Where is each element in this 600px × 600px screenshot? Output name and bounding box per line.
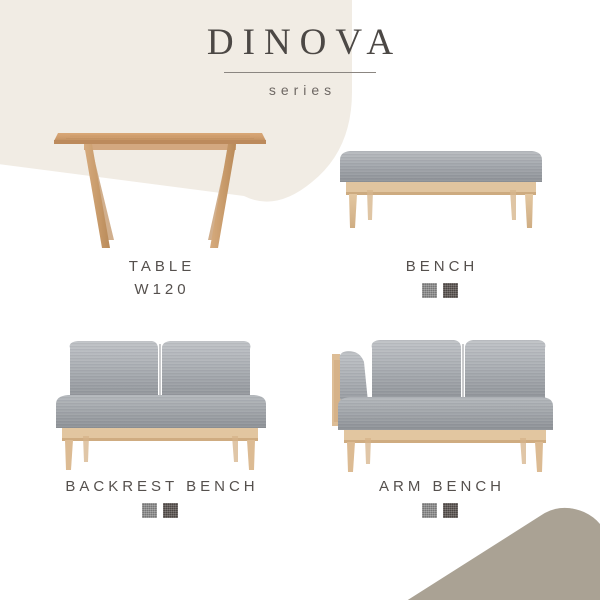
backrest-bench-swatches (40, 503, 280, 518)
product-title: ARM BENCH (320, 478, 560, 495)
catalog-page: DINOVA series (0, 0, 600, 600)
dining-table-illustration (40, 108, 280, 258)
backrest-bench-figure (40, 330, 280, 478)
bench-figure (320, 108, 560, 258)
brand-header: DINOVA series (0, 24, 600, 98)
product-card-bench[interactable]: BENCH (320, 108, 560, 298)
swatch-light-gray[interactable] (422, 283, 437, 298)
arm-bench-figure (320, 330, 560, 478)
product-subtitle: W120 (40, 281, 280, 298)
product-title: BENCH (320, 258, 560, 275)
product-card-arm-bench[interactable]: ARM BENCH (320, 330, 560, 518)
bench-caption: BENCH (320, 258, 560, 298)
brand-divider (224, 72, 376, 73)
arm-bench-illustration (320, 330, 560, 478)
arm-bench-swatches (320, 503, 560, 518)
product-card-table[interactable]: TABLE W120 (40, 108, 280, 298)
brand-subtitle: series (0, 82, 600, 98)
swatch-dark-gray[interactable] (163, 503, 178, 518)
product-title: BACKREST BENCH (40, 478, 280, 495)
table-figure (40, 108, 280, 258)
swatch-light-gray[interactable] (142, 503, 157, 518)
bench-swatches (320, 283, 560, 298)
product-card-backrest-bench[interactable]: BACKREST BENCH (40, 330, 280, 518)
swatch-light-gray[interactable] (422, 503, 437, 518)
arm-bench-caption: ARM BENCH (320, 478, 560, 518)
table-caption: TABLE W120 (40, 258, 280, 298)
swatch-dark-gray[interactable] (443, 283, 458, 298)
upholstered-bench-illustration (320, 108, 560, 258)
brand-title: DINOVA (0, 24, 600, 63)
backrest-bench-illustration (40, 330, 280, 478)
backrest-bench-caption: BACKREST BENCH (40, 478, 280, 518)
product-title: TABLE (40, 258, 280, 275)
swatch-dark-gray[interactable] (443, 503, 458, 518)
